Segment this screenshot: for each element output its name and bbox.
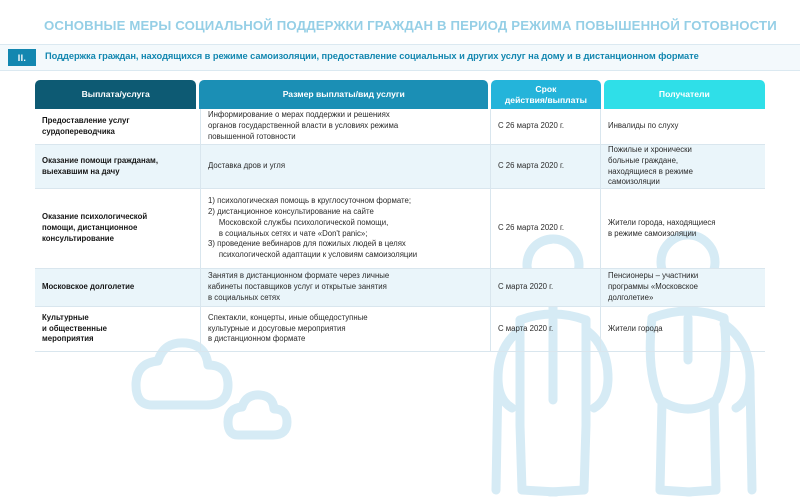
- cell-text: Московское долголетие: [42, 282, 193, 293]
- cell-recipients: Жители города, находящиеся в режиме само…: [600, 189, 765, 268]
- column-header-service: Выплата/услуга: [35, 80, 196, 109]
- table-row: Оказание помощи гражданам, выехавшим на …: [35, 145, 765, 189]
- table-row: Московское долголетие Занятия в дистанци…: [35, 269, 765, 307]
- cell-text: Жители города: [608, 324, 758, 335]
- cell-term: С 26 марта 2020 г.: [490, 189, 600, 268]
- section-subtitle: Поддержка граждан, находящихся в режиме …: [45, 51, 790, 61]
- table-header-row: Выплата/услуга Размер выплаты/вид услуги…: [35, 80, 765, 109]
- column-header-term: Срок действия/выплаты: [491, 80, 601, 109]
- cell-description: Занятия в дистанционном формате через ли…: [200, 269, 490, 306]
- cell-text: Доставка дров и угля: [208, 161, 483, 172]
- cell-text: Пожилые и хронически больные граждане, н…: [608, 145, 758, 188]
- table-row: Предоставление услуг сурдопереводчика Ин…: [35, 109, 765, 145]
- table-body: Предоставление услуг сурдопереводчика Ин…: [35, 109, 765, 352]
- cell-service: Предоставление услуг сурдопереводчика: [35, 109, 200, 144]
- cell-text: С 26 марта 2020 г.: [498, 121, 593, 132]
- cell-service: Оказание помощи гражданам, выехавшим на …: [35, 145, 200, 188]
- header-divider-top: [0, 44, 800, 45]
- cell-description: Доставка дров и угля: [200, 145, 490, 188]
- cell-text: Пенсионеры – участники программы «Москов…: [608, 271, 758, 303]
- support-measures-table: Выплата/услуга Размер выплаты/вид услуги…: [35, 80, 765, 352]
- cell-text: Занятия в дистанционном формате через ли…: [208, 271, 483, 303]
- table-row: Культурные и общественные мероприятия Сп…: [35, 307, 765, 352]
- cell-service: Оказание психологической помощи, дистанц…: [35, 189, 200, 268]
- cell-text: Инвалиды по слуху: [608, 121, 758, 132]
- page-title: ОСНОВНЫЕ МЕРЫ СОЦИАЛЬНОЙ ПОДДЕРЖКИ ГРАЖД…: [44, 18, 784, 33]
- table-row: Оказание психологической помощи, дистанц…: [35, 189, 765, 269]
- cell-term: С 26 марта 2020 г.: [490, 109, 600, 144]
- cell-service: Культурные и общественные мероприятия: [35, 307, 200, 351]
- cell-service: Московское долголетие: [35, 269, 200, 306]
- cell-text: Предоставление услуг сурдопереводчика: [42, 116, 193, 138]
- section-number-badge: II.: [8, 49, 36, 66]
- cell-recipients: Пожилые и хронически больные граждане, н…: [600, 145, 765, 188]
- cell-recipients: Жители города: [600, 307, 765, 351]
- cell-text: Оказание психологической помощи, дистанц…: [42, 212, 193, 244]
- cell-text: Оказание помощи гражданам, выехавшим на …: [42, 156, 193, 178]
- cell-text: Жители города, находящиеся в режиме само…: [608, 218, 758, 240]
- cloud-icon: [228, 395, 287, 435]
- cell-description: Спектакли, концерты, иные общедоступные …: [200, 307, 490, 351]
- cell-term: С марта 2020 г.: [490, 307, 600, 351]
- cell-text: С марта 2020 г.: [498, 282, 593, 293]
- cloud-icon: [136, 343, 228, 405]
- cell-recipients: Пенсионеры – участники программы «Москов…: [600, 269, 765, 306]
- cell-text: С марта 2020 г.: [498, 324, 593, 335]
- cell-text: Информирование о мерах поддержки и решен…: [208, 110, 483, 142]
- cell-text: Культурные и общественные мероприятия: [42, 313, 193, 345]
- cell-term: С марта 2020 г.: [490, 269, 600, 306]
- cell-text: С 26 марта 2020 г.: [498, 223, 593, 234]
- cell-term: С 26 марта 2020 г.: [490, 145, 600, 188]
- cell-description: Информирование о мерах поддержки и решен…: [200, 109, 490, 144]
- cell-text: Спектакли, концерты, иные общедоступные …: [208, 313, 483, 345]
- cell-text: С 26 марта 2020 г.: [498, 161, 593, 172]
- column-header-recipients: Получатели: [604, 80, 765, 109]
- column-header-description: Размер выплаты/вид услуги: [199, 80, 488, 109]
- header-divider-bottom: [0, 70, 800, 71]
- cell-recipients: Инвалиды по слуху: [600, 109, 765, 144]
- cell-description: 1) психологическая помощь в круглосуточн…: [200, 189, 490, 268]
- cell-text: 1) психологическая помощь в круглосуточн…: [208, 196, 483, 261]
